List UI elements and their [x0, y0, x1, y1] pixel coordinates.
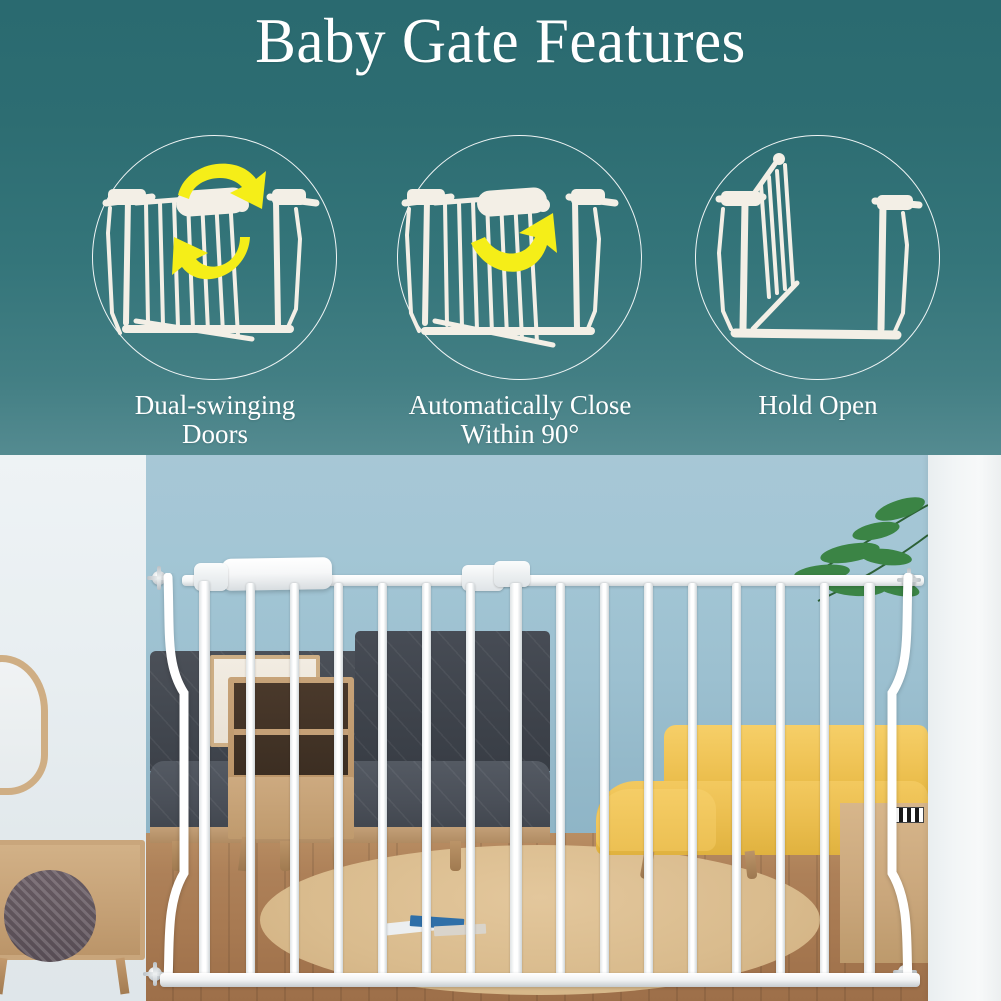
gate-vertical-bar	[334, 583, 343, 979]
feature-caption-line1: Dual-swinging	[55, 391, 375, 420]
feature-caption-line2: Doors	[55, 420, 375, 449]
close-arrow-icon	[471, 213, 557, 272]
feature-caption: Hold Open	[658, 391, 978, 420]
feature-caption-line1: Hold Open	[658, 391, 978, 420]
gate-handle-icon	[476, 187, 550, 218]
gate-vertical-bar	[199, 581, 210, 981]
feature-automatically-close[interactable]: Automatically Close Within 90°	[395, 133, 645, 453]
gate-vertical-bar	[864, 583, 875, 981]
gate-latch-post	[510, 583, 522, 981]
gate-vertical-bar	[600, 583, 609, 979]
feature-hold-open[interactable]: Hold Open	[693, 133, 943, 453]
gate-vertical-bar	[644, 583, 653, 979]
gate-vertical-bar	[422, 583, 431, 979]
gate-handle[interactable]	[222, 557, 333, 591]
gate-vertical-bar	[290, 583, 299, 979]
gate-vertical-bar	[776, 583, 785, 979]
feature-caption: Dual-swinging Doors	[55, 391, 375, 449]
gate-vertical-bar	[378, 583, 387, 979]
page-title: Baby Gate Features	[15, 8, 986, 74]
gate-vertical-bar	[688, 583, 697, 979]
gate-vertical-bar	[466, 583, 475, 979]
baby-gate	[0, 455, 1001, 1001]
feature-caption: Automatically Close Within 90°	[360, 391, 680, 449]
poster-canvas: Baby Gate Features	[0, 0, 1001, 1001]
baby-gate-hold-open-icon	[693, 133, 942, 382]
feature-caption-line1: Automatically Close	[360, 391, 680, 420]
product-photo	[0, 455, 1001, 1001]
swing-arrow-bottom-icon	[172, 237, 250, 279]
gate-vertical-bar	[732, 583, 741, 979]
baby-gate-auto-close-icon	[395, 133, 644, 382]
gate-vertical-bar	[820, 583, 829, 979]
gate-vertical-bar	[556, 583, 565, 979]
gate-bottom-threshold	[160, 973, 920, 987]
baby-gate-dual-swing-icon	[90, 133, 339, 382]
feature-caption-line2: Within 90°	[360, 420, 680, 449]
feature-dual-swinging-doors[interactable]: Dual-swinging Doors	[90, 133, 340, 453]
feature-row: Dual-swinging Doors	[0, 133, 1001, 453]
gate-vertical-bar	[246, 583, 255, 979]
